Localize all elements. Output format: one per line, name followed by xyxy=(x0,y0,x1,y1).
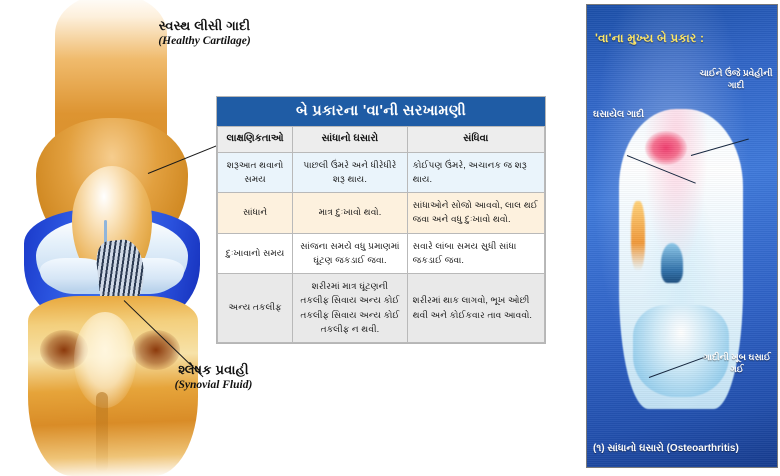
panel-label-fluid-pad: ચાઈને ઉંજે પ્રવેહીની ગાદી xyxy=(695,67,777,91)
table-title: બે પ્રકારના 'વા'ની સરખામણી xyxy=(217,97,545,126)
cell-feature: શરૂઆત થવાનો સમય xyxy=(218,152,293,193)
inflamed-area-shape xyxy=(645,131,687,165)
column-header-osteoarthritis: સાંધાનો ઘસારો xyxy=(293,127,407,153)
table-header-row: લાક્ષણિકતાઓ સાંધાનો ઘસારો સંધિવા xyxy=(218,127,545,153)
label-healthy-cartilage-gujarati: સ્વસ્થ લીસી ગાદી xyxy=(112,18,297,34)
cell-feature: દુઃખાવાનો સમય xyxy=(218,233,293,274)
table-row: શરૂઆત થવાનો સમય પાછલી ઉંમરે અને ધીરેધીરે… xyxy=(218,152,545,193)
panel-caption: (૧) સાંધાનો ઘસારો (Osteoarthritis) xyxy=(593,443,771,455)
cell-rheumatoid: કોઈપણ ઉંમરે, અચાનક જ શરૂ થાય. xyxy=(407,152,544,193)
column-header-feature: લાક્ષણિકતાઓ xyxy=(218,127,293,153)
label-healthy-cartilage: સ્વસ્થ લીસી ગાદી (Healthy Cartilage) xyxy=(112,18,297,49)
cell-feature: અન્ય તકલીફ xyxy=(218,274,293,343)
cell-rheumatoid: સાંધાઓને સોજો આવવો, લાલ થઈ જવા અને વધુ દ… xyxy=(407,193,544,234)
cell-osteoarthritis: માત્ર દુઃખાવો થવો. xyxy=(293,193,407,234)
column-header-rheumatoid: સંધિવા xyxy=(407,127,544,153)
table-row: દુઃખાવાનો સમય સાંજના સમયે વધુ પ્રમાણમાં … xyxy=(218,233,545,274)
cell-rheumatoid: સવારે લાંબા સમય સુધી સાંધા જકડાઈ જવા. xyxy=(407,233,544,274)
comparison-table-grid: લાક્ષણિકતાઓ સાંધાનો ઘસારો સંધિવા શરૂઆત થ… xyxy=(217,126,545,343)
page-root: સ્વસ્થ લીસી ગાદી (Healthy Cartilage) શ્લ… xyxy=(0,0,780,470)
panel-label-worn-away: ગાદીની ખૂબ ઘસાઈ ગઈ xyxy=(697,351,777,375)
cell-feature: સાંધાને xyxy=(218,193,293,234)
comparison-table: બે પ્રકારના 'વા'ની સરખામણી લાક્ષણિકતાઓ સ… xyxy=(216,96,546,344)
table-row: અન્ય તકલીફ શરીરમાં માત્ર ઘૂંટણની તકલીફ સ… xyxy=(218,274,545,343)
panel-heading: 'વા'ના મુખ્ય બે પ્રકાર : xyxy=(595,31,704,45)
cell-osteoarthritis: પાછલી ઉંમરે અને ધીરેધીરે શરૂ થાય. xyxy=(293,152,407,193)
cell-osteoarthritis: શરીરમાં માત્ર ઘૂંટણની તકલીફ સિવાય અન્ય ક… xyxy=(293,274,407,343)
cell-rheumatoid: શરીરમાં થાક લાગવો, ભૂખ ઓછી થવી અને કોઈકવ… xyxy=(407,274,544,343)
label-synovial-fluid-gujarati: શ્લેષક પ્રવાહી xyxy=(126,362,301,378)
label-healthy-cartilage-english: (Healthy Cartilage) xyxy=(112,34,297,48)
label-synovial-fluid: શ્લેષક પ્રવાહી (Synovial Fluid) xyxy=(126,362,301,393)
label-synovial-fluid-english: (Synovial Fluid) xyxy=(126,378,301,392)
table-row: સાંધાને માત્ર દુઃખાવો થવો. સાંધાઓને સોજો… xyxy=(218,193,545,234)
osteoarthritis-photo-panel: 'વા'ના મુખ્ય બે પ્રકાર : ચાઈને ઉંજે પ્રવ… xyxy=(586,4,778,468)
tibia-cleft-shadow xyxy=(96,392,108,472)
cell-osteoarthritis: સાંજના સમયે વધુ પ્રમાણમાં ઘૂંટણ જકડાઈ જવ… xyxy=(293,233,407,274)
worn-cartilage-shape xyxy=(631,201,645,271)
panel-label-worn-pad: ઘસાયેલ ગાદી xyxy=(593,109,644,120)
joint-notch-shape xyxy=(661,243,683,283)
